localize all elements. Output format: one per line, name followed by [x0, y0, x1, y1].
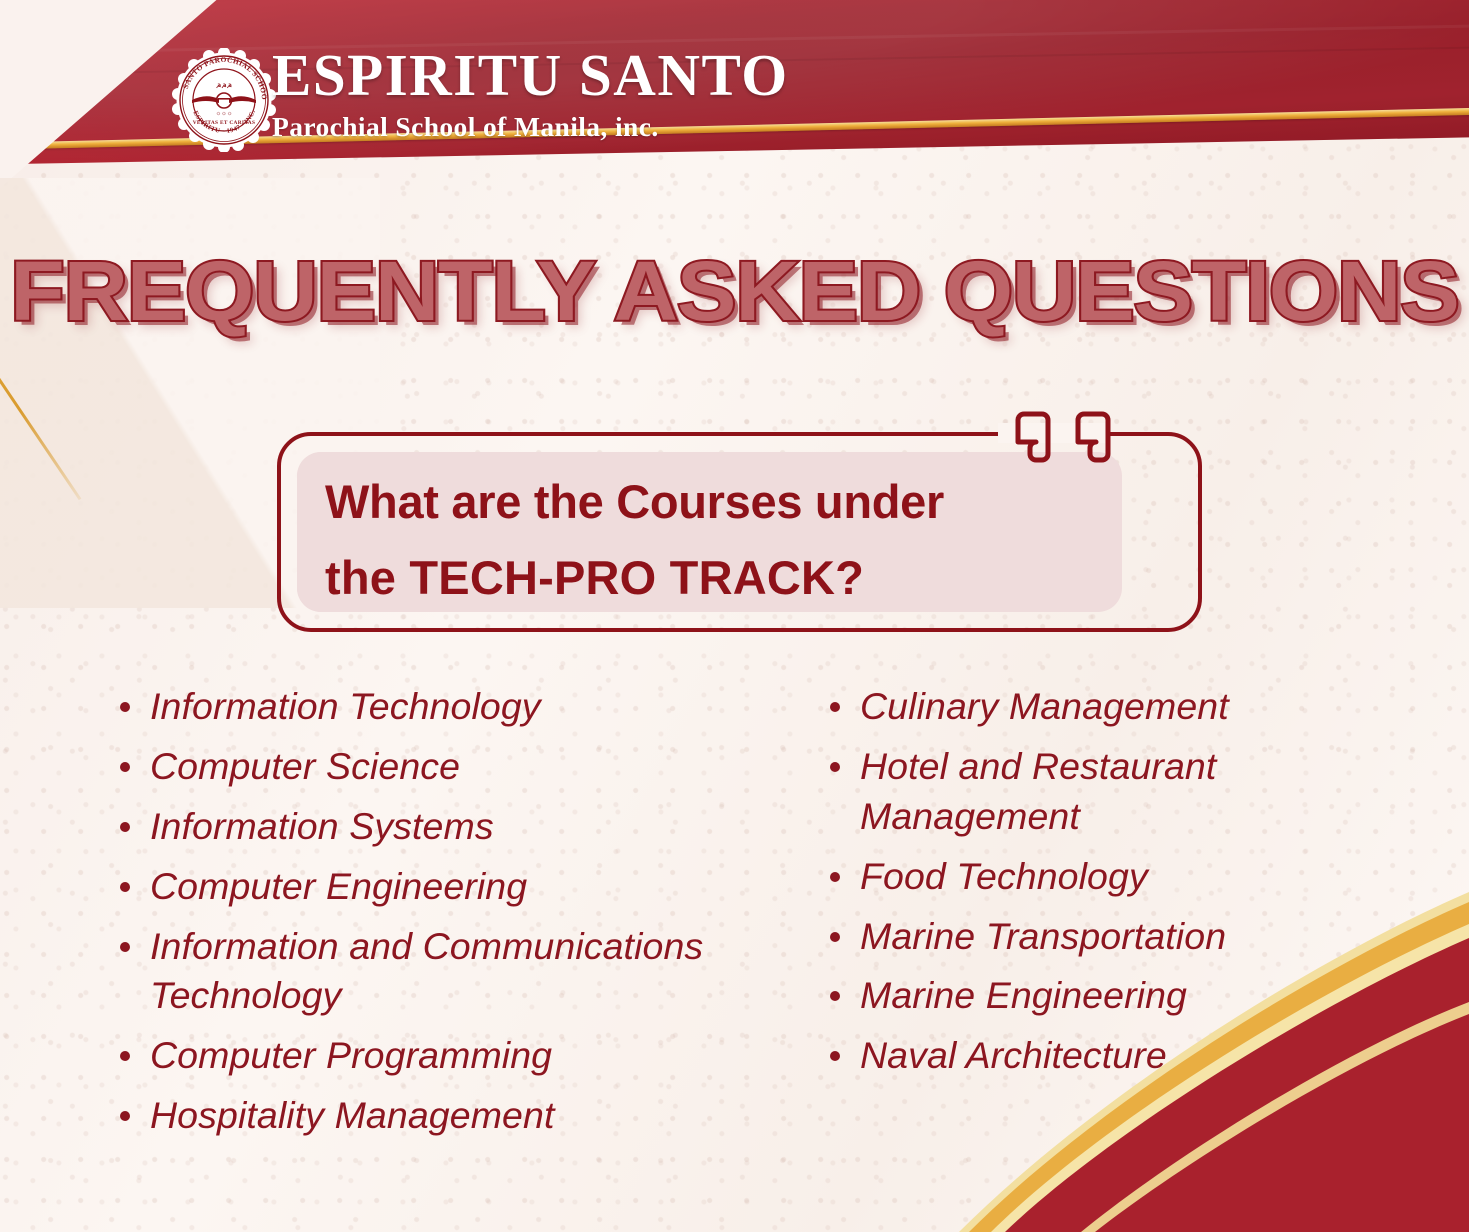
course-list-item: Computer Programming [108, 1031, 818, 1081]
course-list-item: Culinary Management [818, 682, 1378, 732]
question-card: What are the Courses under the TECH-PRO … [277, 432, 1202, 632]
school-subtitle-text: Parochial School of Manila, inc. [272, 111, 659, 142]
svg-text:☼☼☼: ☼☼☼ [215, 110, 232, 117]
school-subtitle: Parochial School of Manila, inc. [272, 113, 832, 141]
course-list-left: Information TechnologyComputer ScienceIn… [108, 682, 818, 1141]
quote-mark-icon [1072, 410, 1114, 475]
brand-block: ESPIRITU SANTO Parochial School of Manil… [272, 46, 832, 141]
courses-right-column: Culinary ManagementHotel and Restaurant … [818, 682, 1378, 1091]
courses-section: Information TechnologyComputer ScienceIn… [0, 682, 1469, 1112]
question-line-1: What are the Courses under [325, 464, 1155, 540]
question-text: What are the Courses under the TECH-PRO … [325, 464, 1155, 616]
question-line-2: the TECH-PRO TRACK? [325, 540, 1155, 616]
course-list-item: Hotel and Restaurant Management [818, 742, 1378, 842]
page-title: FREQUENTLY ASKED QUESTIONS [0, 243, 1469, 340]
course-list-item: Naval Architecture [818, 1031, 1378, 1081]
faq-poster: SANTO PAROCHIAL SCHOOL OF MANILA ESPIRIT… [0, 0, 1469, 1232]
svg-text:VERITAS ET CARITAS: VERITAS ET CARITAS [193, 120, 256, 126]
course-list-item: Marine Transportation [818, 912, 1378, 962]
courses-left-column: Information TechnologyComputer ScienceIn… [108, 682, 818, 1151]
course-list-item: Computer Science [108, 742, 818, 792]
school-name: ESPIRITU SANTO [272, 46, 832, 105]
course-list-item: Information Systems [108, 802, 818, 852]
course-list-item: Computer Engineering [108, 862, 818, 912]
course-list-item: Marine Engineering [818, 971, 1378, 1021]
header-band: SANTO PAROCHIAL SCHOOL OF MANILA ESPIRIT… [0, 0, 1469, 200]
quote-mark-icon [1012, 410, 1054, 475]
course-list-item: Hospitality Management [108, 1091, 818, 1141]
course-list-right: Culinary ManagementHotel and Restaurant … [818, 682, 1378, 1081]
course-list-item: Food Technology [818, 852, 1378, 902]
svg-text:☭☭☭: ☭☭☭ [216, 83, 233, 90]
course-list-item: Information and Communications Technolog… [108, 922, 818, 1022]
course-list-item: Information Technology [108, 682, 818, 732]
school-seal-icon: SANTO PAROCHIAL SCHOOL OF MANILA ESPIRIT… [172, 48, 276, 152]
